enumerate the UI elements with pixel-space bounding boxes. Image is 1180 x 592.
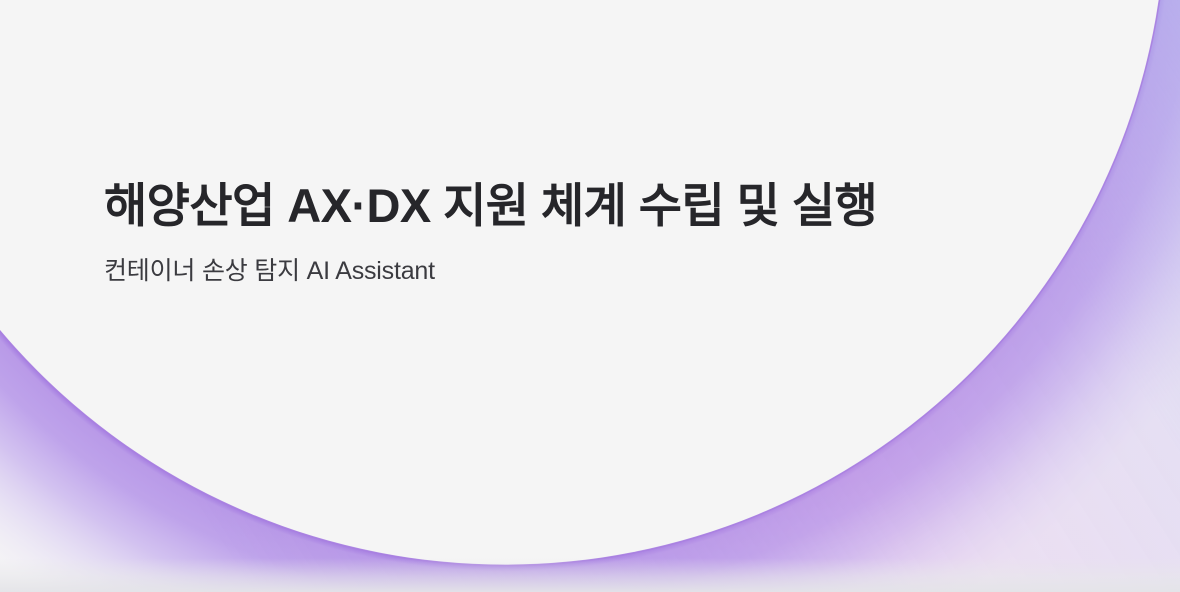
arc-glow-layer (0, 0, 1180, 592)
title-slide: 해양산업 AX·DX 지원 체계 수립 및 실행 컨테이너 손상 탐지 AI A… (0, 0, 1180, 592)
purple-arc-graphic (0, 0, 1180, 592)
title-text-block: 해양산업 AX·DX 지원 체계 수립 및 실행 컨테이너 손상 탐지 AI A… (104, 178, 1064, 288)
arc-hue-layer (0, 0, 1180, 592)
page-title: 해양산업 AX·DX 지원 체계 수립 및 실행 (104, 178, 1064, 233)
decorative-backdrop (0, 0, 1180, 592)
bottom-edge-fade (0, 558, 1180, 592)
page-subtitle: 컨테이너 손상 탐지 AI Assistant (104, 255, 1064, 288)
